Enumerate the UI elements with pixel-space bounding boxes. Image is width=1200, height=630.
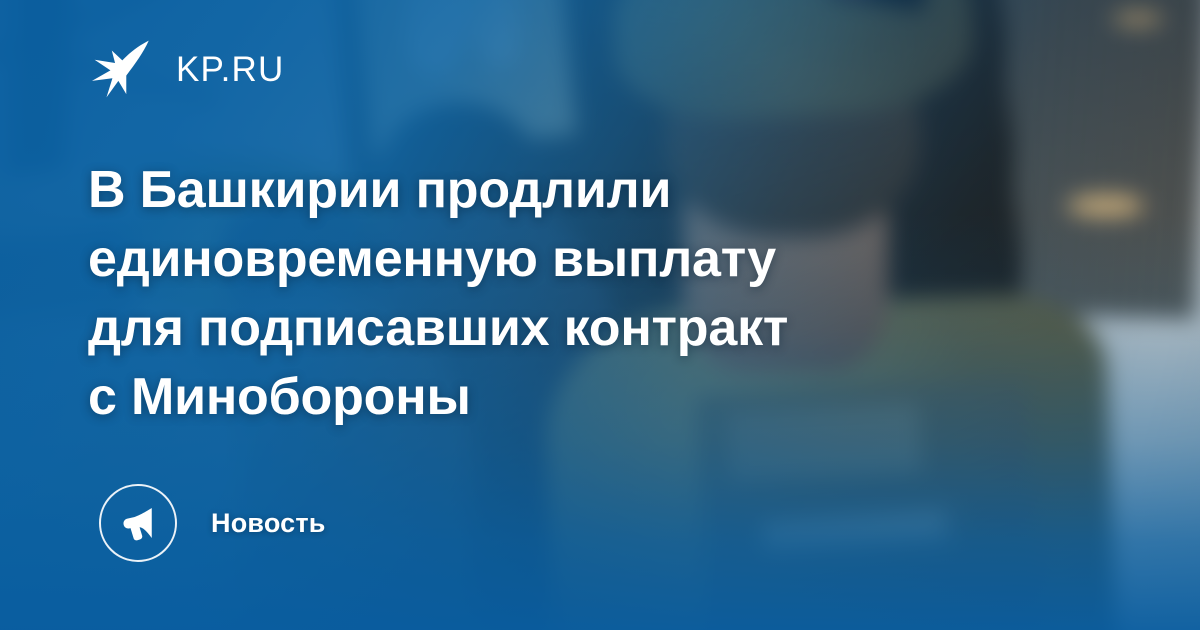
headline-line: с Минобороны — [88, 363, 898, 432]
badge-label: Новость — [211, 510, 326, 537]
headline-line: В Башкирии продлили — [88, 156, 898, 225]
swallow-bird-icon — [88, 36, 154, 102]
headline-line: единовременную выплату — [88, 225, 898, 294]
brand-logo[interactable]: KP.RU — [88, 36, 284, 102]
status-badge[interactable]: Новость — [99, 484, 326, 562]
badge-icon-circle — [99, 484, 177, 562]
brand-name: KP.RU — [176, 52, 284, 87]
card-content: KP.RU В Башкирии продлили единовременную… — [0, 0, 1200, 630]
page-title: В Башкирии продлили единовременную выпла… — [88, 156, 898, 432]
headline-line: для подписавших контракт — [88, 294, 898, 363]
megaphone-icon — [118, 503, 158, 543]
share-card: KP.RU В Башкирии продлили единовременную… — [0, 0, 1200, 630]
